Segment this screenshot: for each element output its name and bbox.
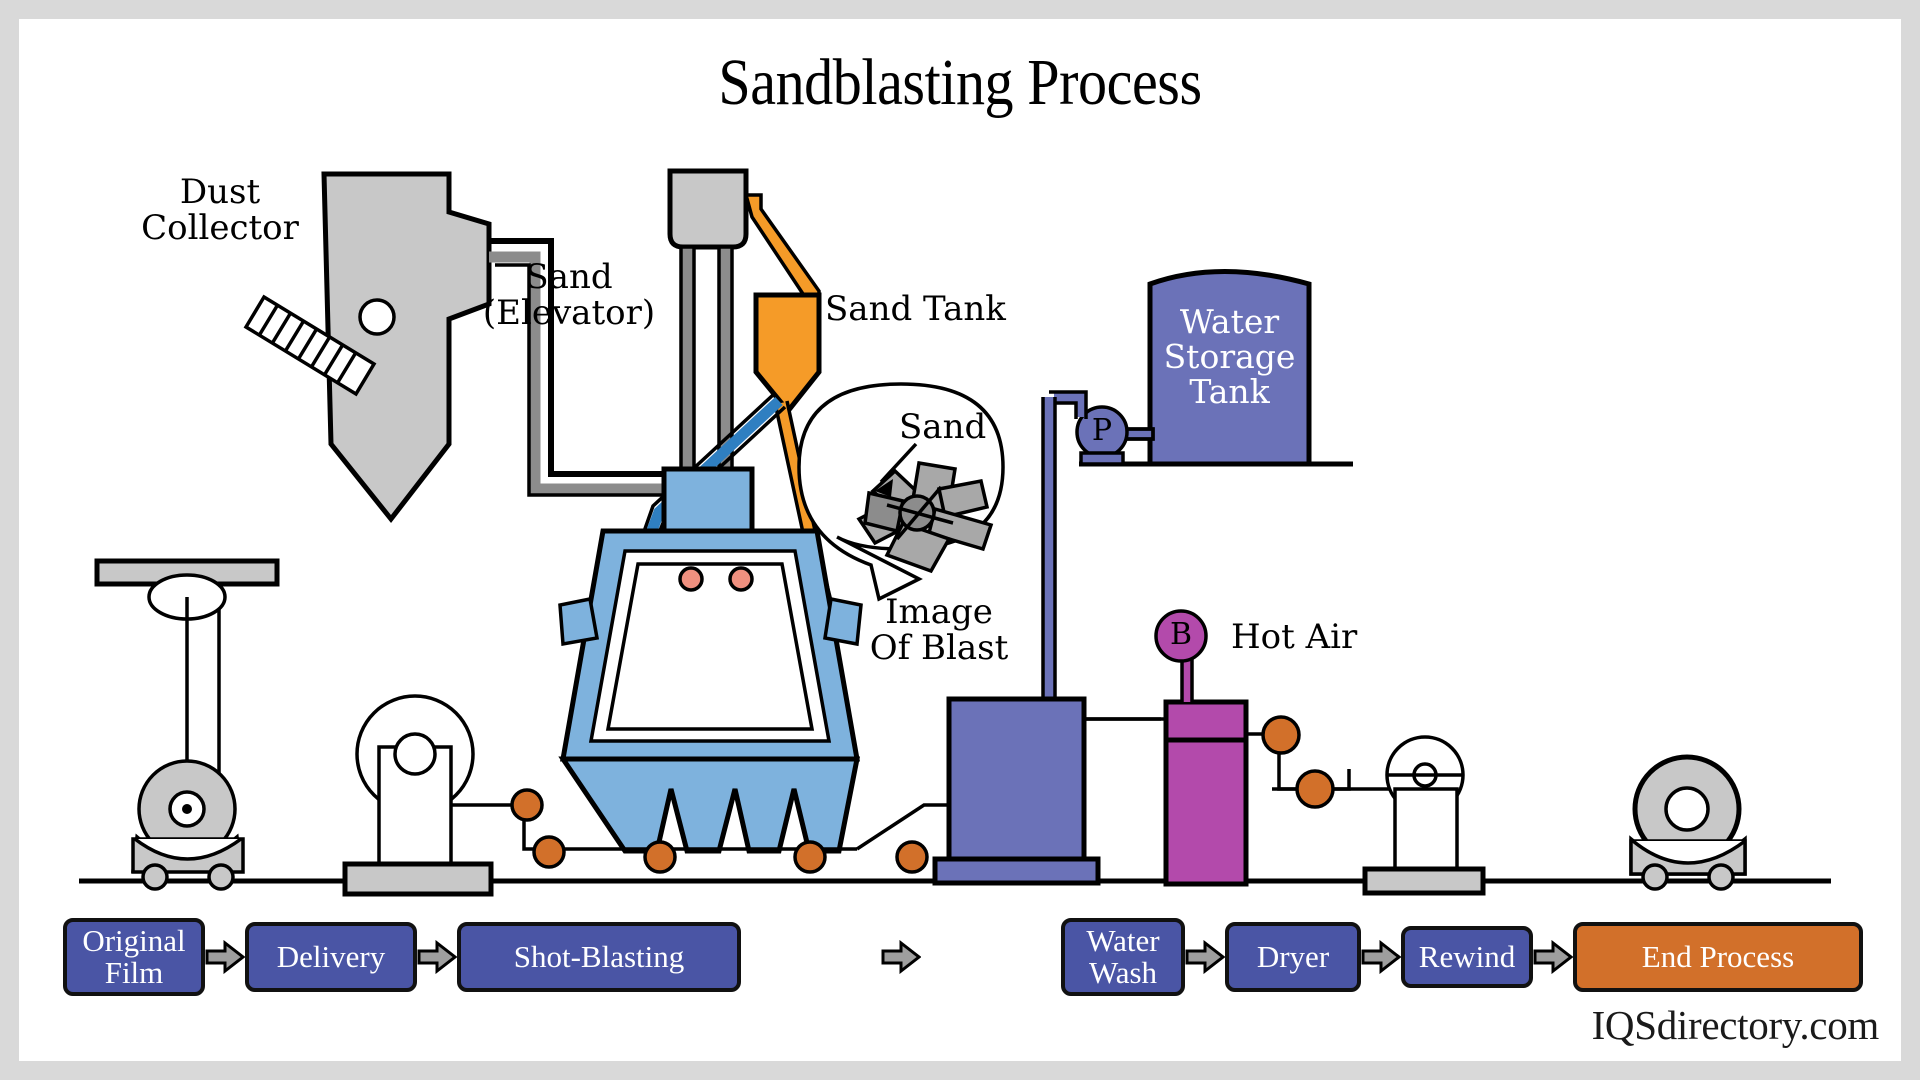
pump-marker-label: P	[1082, 415, 1122, 447]
page-border: Sandblasting Process .ol { stroke:#000; …	[0, 0, 1920, 1080]
flow-step-water-wash[interactable]: Water Wash	[1061, 918, 1185, 996]
watermark: IQSdirectory.com	[1592, 1001, 1879, 1049]
flow-step-label: Rewind	[1419, 941, 1515, 973]
flow-step-rewind[interactable]: Rewind	[1401, 926, 1533, 988]
label-sand-callout: Sand	[899, 409, 1019, 445]
rewind-stand-icon	[1365, 737, 1483, 893]
flow-arrow-5	[1361, 940, 1401, 974]
flow-step-original-film[interactable]: Original Film	[63, 918, 205, 996]
flow-step-dryer[interactable]: Dryer	[1225, 922, 1361, 992]
finished-roll-icon	[1631, 757, 1745, 889]
label-dust-collector: Dust Collector	[125, 174, 315, 246]
flow-step-label: End Process	[1642, 941, 1794, 973]
water-wash-icon	[935, 699, 1098, 883]
label-sand-elevator: Sand (Elevator)	[469, 259, 669, 331]
label-sand-tank: Sand Tank	[825, 291, 1045, 327]
flow-step-end-process[interactable]: End Process	[1573, 922, 1863, 992]
flow-arrow-4	[1185, 940, 1225, 974]
flow-step-label: Dryer	[1257, 941, 1329, 973]
label-hot-air: Hot Air	[1231, 619, 1411, 655]
flow-arrow-2	[417, 940, 457, 974]
delivery-stand-icon	[345, 696, 491, 894]
unwind-roll-icon	[97, 561, 277, 889]
label-water-storage-tank: Water Storage Tank	[1150, 305, 1309, 410]
flow-arrow-1	[205, 940, 245, 974]
flow-arrow-3	[881, 940, 921, 974]
flow-step-label: Water Wash	[1075, 925, 1171, 988]
flow-step-label: Original Film	[77, 925, 191, 988]
blower-marker-label: B	[1161, 619, 1201, 651]
diagram-stage: .ol { stroke:#000; stroke-width:5; } .ol…	[19, 19, 1901, 1061]
label-image-of-blast: Image Of Blast	[839, 594, 1039, 666]
flow-step-label: Shot-Blasting	[514, 941, 685, 973]
process-flow-row: Original Film Delivery Shot-Blasting	[63, 909, 1863, 1005]
diagram-canvas: Sandblasting Process .ol { stroke:#000; …	[19, 19, 1901, 1061]
flow-step-delivery[interactable]: Delivery	[245, 922, 417, 992]
flow-arrow-6	[1533, 940, 1573, 974]
flow-step-shot-blasting[interactable]: Shot-Blasting	[457, 922, 741, 992]
flow-step-label: Delivery	[277, 941, 385, 973]
